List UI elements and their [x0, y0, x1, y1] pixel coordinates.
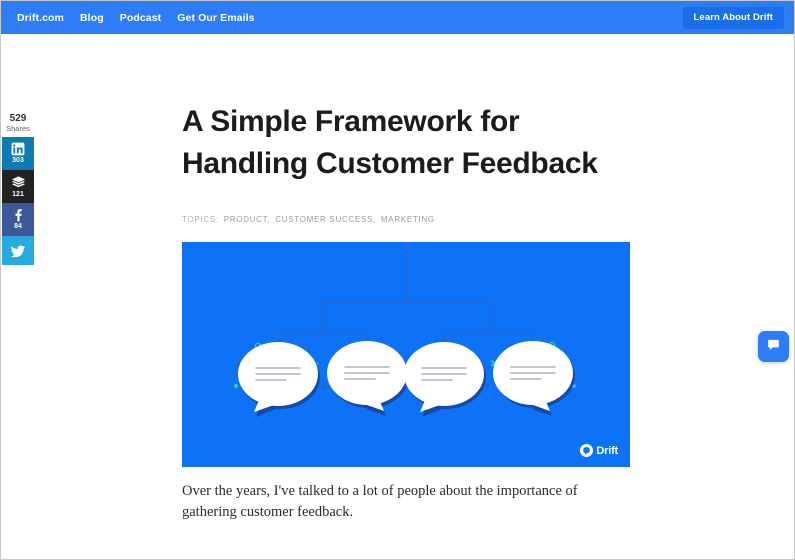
share-count-facebook: 84	[14, 223, 22, 231]
share-count-linkedin: 303	[12, 157, 24, 165]
topic-link-marketing[interactable]: MARKETING	[381, 215, 435, 224]
nav-links-group: Drift.com Blog Podcast Get Our Emails	[17, 12, 255, 24]
facebook-icon	[11, 208, 25, 222]
share-button-twitter[interactable]	[2, 236, 34, 265]
topic-link-customer-success[interactable]: CUSTOMER SUCCESS,	[275, 215, 376, 224]
top-navigation-bar: Drift.com Blog Podcast Get Our Emails Le…	[1, 1, 795, 34]
topics-row: TOPICS: PRODUCT, CUSTOMER SUCCESS, MARKE…	[182, 215, 631, 224]
nav-link-get-our-emails[interactable]: Get Our Emails	[177, 12, 254, 24]
share-count-buffer: 121	[12, 191, 24, 199]
drift-logo: Drift	[580, 444, 618, 457]
topics-label: TOPICS:	[182, 215, 219, 224]
share-total-label: Shares	[2, 124, 34, 134]
buffer-icon	[11, 175, 26, 190]
drift-mark-icon	[580, 444, 593, 457]
share-total-count: 529	[2, 113, 34, 124]
browser-page: Drift.com Blog Podcast Get Our Emails Le…	[0, 0, 795, 560]
drift-wordmark: Drift	[596, 445, 618, 457]
nav-link-podcast[interactable]: Podcast	[120, 12, 162, 24]
nav-link-drift[interactable]: Drift.com	[17, 12, 64, 24]
share-button-linkedin[interactable]: 303	[2, 137, 34, 170]
share-total: 529 Shares	[2, 113, 34, 137]
hero-image: Drift	[182, 242, 630, 467]
chat-widget-button[interactable]	[758, 331, 789, 362]
topic-link-product[interactable]: PRODUCT,	[224, 215, 271, 224]
twitter-icon	[10, 243, 26, 259]
article-body-paragraph: Over the years, I've talked to a lot of …	[182, 481, 607, 523]
headline-line-2: Handling Customer Feedback	[182, 147, 598, 180]
page-title: A Simple Framework for Handling Customer…	[182, 101, 631, 185]
social-share-rail: 529 Shares 303 121	[2, 113, 34, 265]
article-container: A Simple Framework for Handling Customer…	[182, 101, 631, 538]
linkedin-icon	[11, 142, 25, 156]
hero-illustration	[182, 242, 630, 467]
share-button-buffer[interactable]: 121	[2, 170, 34, 203]
chat-bubble-icon	[766, 337, 781, 357]
share-button-facebook[interactable]: 84	[2, 203, 34, 236]
nav-link-blog[interactable]: Blog	[80, 12, 104, 24]
headline-line-1: A Simple Framework for	[182, 105, 519, 138]
learn-about-drift-button[interactable]: Learn About Drift	[683, 7, 784, 29]
